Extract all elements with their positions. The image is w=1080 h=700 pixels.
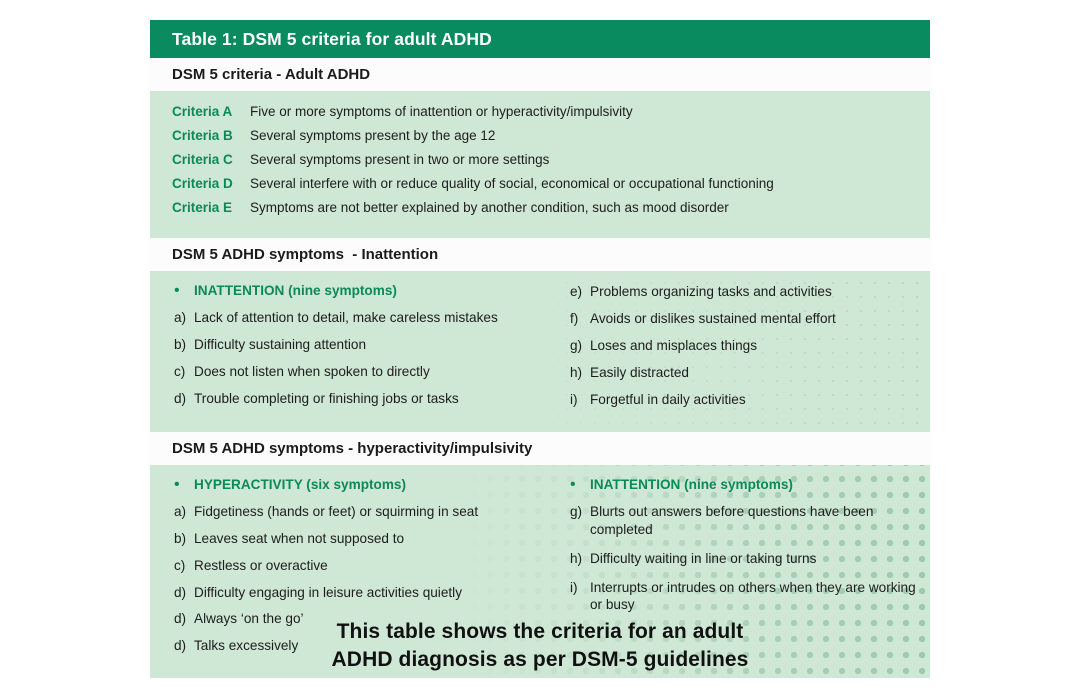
list-item: f) Avoids or dislikes sustained mental e… xyxy=(570,310,930,328)
list-item: h) Difficulty waiting in line or taking … xyxy=(570,550,930,568)
item-text: Restless or overactive xyxy=(194,557,328,575)
item-text: Does not listen when spoken to directly xyxy=(194,363,430,381)
list-item: d) Always ‘on the go’ xyxy=(174,610,560,628)
item-letter: d) xyxy=(174,391,194,406)
dsm5-criteria-table: Table 1: DSM 5 criteria for adult ADHD D… xyxy=(150,20,930,678)
list-item: i) Interrupts or intrudes on others when… xyxy=(570,579,930,615)
section-header-inattention: DSM 5 ADHD symptoms - Inattention xyxy=(150,238,930,271)
item-text: Difficulty sustaining attention xyxy=(194,336,366,354)
item-text: Problems organizing tasks and activities xyxy=(590,283,832,301)
criteria-value: Five or more symptoms of inattention or … xyxy=(250,104,633,119)
item-text: Forgetful in daily activities xyxy=(590,391,746,409)
list-item: b) Leaves seat when not supposed to xyxy=(174,530,560,548)
list-item: g) Loses and misplaces things xyxy=(570,337,930,355)
criteria-key: Criteria D xyxy=(172,176,250,191)
hyperactivity-right-column: • INATTENTION (nine symptoms) g) Blurts … xyxy=(560,477,930,665)
table-row: Criteria B Several symptoms present by t… xyxy=(150,128,930,152)
item-text: Lack of attention to detail, make carele… xyxy=(194,309,498,327)
criteria-list: Criteria A Five or more symptoms of inat… xyxy=(150,91,930,238)
item-letter: h) xyxy=(570,551,590,566)
list-item: d) Difficulty engaging in leisure activi… xyxy=(174,584,560,602)
item-letter: b) xyxy=(174,337,194,352)
item-letter: h) xyxy=(570,365,590,380)
inattention-group-heading: • INATTENTION (nine symptoms) xyxy=(174,283,560,299)
item-letter: i) xyxy=(570,392,590,407)
page-root: Table 1: DSM 5 criteria for adult ADHD D… xyxy=(0,0,1080,700)
item-letter: c) xyxy=(174,558,194,573)
criteria-value: Several symptoms present by the age 12 xyxy=(250,128,495,143)
section-header-hyperactivity-label: DSM 5 ADHD symptoms - hyperactivity/impu… xyxy=(172,440,532,457)
item-text: Blurts out answers before questions have… xyxy=(590,503,930,539)
list-item: a) Fidgetiness (hands or feet) or squirm… xyxy=(174,503,560,521)
item-text: Always ‘on the go’ xyxy=(194,610,304,628)
item-letter: e) xyxy=(570,284,590,299)
hyperactivity-group-heading: • HYPERACTIVITY (six symptoms) xyxy=(174,477,560,493)
inattention-columns: • INATTENTION (nine symptoms) a) Lack of… xyxy=(150,271,930,432)
item-text: Fidgetiness (hands or feet) or squirming… xyxy=(194,503,478,521)
criteria-key: Criteria E xyxy=(172,200,250,215)
table-row: Criteria A Five or more symptoms of inat… xyxy=(150,104,930,128)
item-letter: f) xyxy=(570,311,590,326)
section-header-hyperactivity: DSM 5 ADHD symptoms - hyperactivity/impu… xyxy=(150,432,930,465)
hyperactivity-columns: • HYPERACTIVITY (six symptoms) a) Fidget… xyxy=(150,465,930,679)
criteria-body: Criteria A Five or more symptoms of inat… xyxy=(150,91,930,238)
list-item: d) Talks excessively xyxy=(174,637,560,655)
list-item: h) Easily distracted xyxy=(570,364,930,382)
criteria-value: Symptoms are not better explained by ano… xyxy=(250,200,729,215)
table-row: Criteria E Symptoms are not better expla… xyxy=(150,200,930,224)
item-letter: g) xyxy=(570,504,590,519)
item-text: Leaves seat when not supposed to xyxy=(194,530,404,548)
hyperactivity-body: • HYPERACTIVITY (six symptoms) a) Fidget… xyxy=(150,465,930,679)
item-letter: c) xyxy=(174,364,194,379)
item-text: Interrupts or intrudes on others when th… xyxy=(590,579,930,615)
list-item: b) Difficulty sustaining attention xyxy=(174,336,560,354)
list-item: g) Blurts out answers before questions h… xyxy=(570,503,930,539)
list-item: d) Trouble completing or finishing jobs … xyxy=(174,390,560,408)
inattention-group-label: INATTENTION (nine symptoms) xyxy=(194,283,397,298)
item-letter: i) xyxy=(570,580,590,595)
item-text: Difficulty waiting in line or taking tur… xyxy=(590,550,816,568)
criteria-value: Several interfere with or reduce quality… xyxy=(250,176,774,191)
impulsivity-group-heading: • INATTENTION (nine symptoms) xyxy=(570,477,930,493)
item-letter: d) xyxy=(174,585,194,600)
inattention-right-column: e) Problems organizing tasks and activit… xyxy=(560,283,930,418)
item-text: Avoids or dislikes sustained mental effo… xyxy=(590,310,836,328)
table-row: Criteria D Several interfere with or red… xyxy=(150,176,930,200)
section-header-inattention-label: DSM 5 ADHD symptoms - Inattention xyxy=(172,246,438,263)
item-letter: b) xyxy=(174,531,194,546)
item-text: Talks excessively xyxy=(194,637,298,655)
item-text: Loses and misplaces things xyxy=(590,337,757,355)
bullet-icon: • xyxy=(174,283,194,299)
inattention-left-column: • INATTENTION (nine symptoms) a) Lack of… xyxy=(150,283,560,418)
criteria-value: Several symptoms present in two or more … xyxy=(250,152,549,167)
item-text: Easily distracted xyxy=(590,364,689,382)
section-header-criteria-label: DSM 5 criteria - Adult ADHD xyxy=(172,66,370,83)
table-row: Criteria C Several symptoms present in t… xyxy=(150,152,930,176)
item-text: Trouble completing or finishing jobs or … xyxy=(194,390,459,408)
item-letter: a) xyxy=(174,310,194,325)
table-title-bar: Table 1: DSM 5 criteria for adult ADHD xyxy=(150,20,930,58)
hyperactivity-group-label: HYPERACTIVITY (six symptoms) xyxy=(194,477,406,492)
list-item: c) Restless or overactive xyxy=(174,557,560,575)
section-header-criteria: DSM 5 criteria - Adult ADHD xyxy=(150,58,930,91)
bullet-icon: • xyxy=(570,477,590,493)
criteria-key: Criteria A xyxy=(172,104,250,119)
impulsivity-group-label: INATTENTION (nine symptoms) xyxy=(590,477,793,492)
criteria-key: Criteria B xyxy=(172,128,250,143)
item-letter: g) xyxy=(570,338,590,353)
item-letter: a) xyxy=(174,504,194,519)
table-title: Table 1: DSM 5 criteria for adult ADHD xyxy=(172,29,492,50)
item-letter: d) xyxy=(174,638,194,653)
item-text: Difficulty engaging in leisure activitie… xyxy=(194,584,462,602)
list-item: i) Forgetful in daily activities xyxy=(570,391,930,409)
criteria-key: Criteria C xyxy=(172,152,250,167)
inattention-body: • INATTENTION (nine symptoms) a) Lack of… xyxy=(150,271,930,432)
list-item: e) Problems organizing tasks and activit… xyxy=(570,283,930,301)
item-letter: d) xyxy=(174,611,194,626)
hyperactivity-left-column: • HYPERACTIVITY (six symptoms) a) Fidget… xyxy=(150,477,560,665)
bullet-icon: • xyxy=(174,477,194,493)
list-item: a) Lack of attention to detail, make car… xyxy=(174,309,560,327)
list-item: c) Does not listen when spoken to direct… xyxy=(174,363,560,381)
